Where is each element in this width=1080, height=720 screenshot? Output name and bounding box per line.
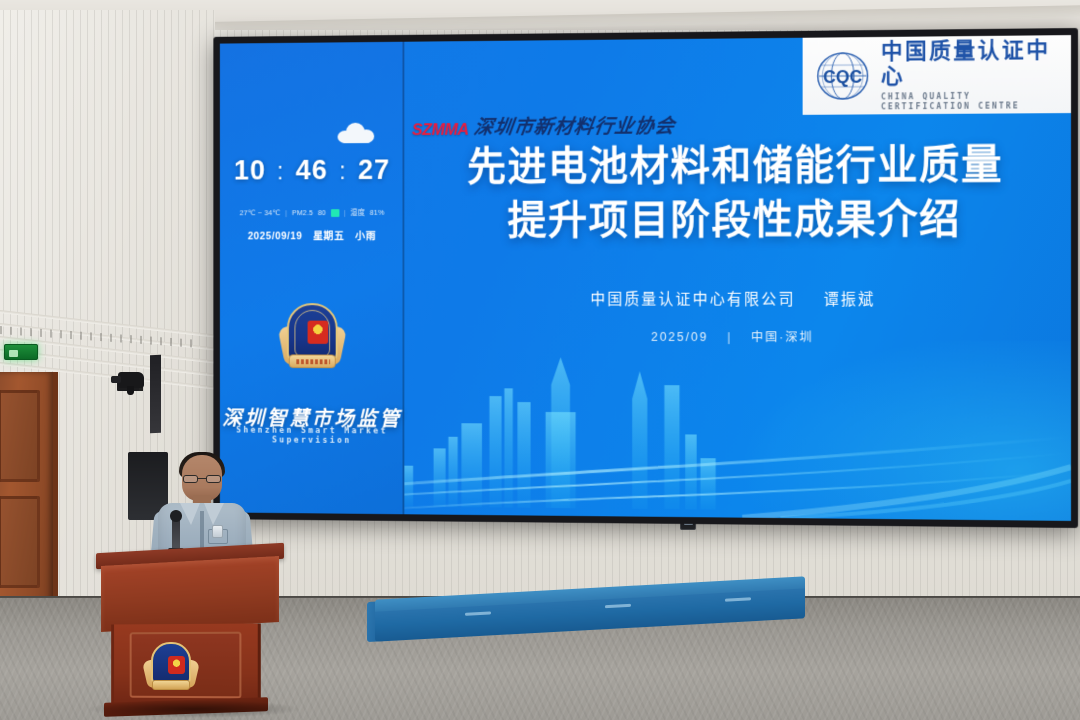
pm25-value: 80 bbox=[318, 208, 326, 217]
szmma-name-cn: 深圳市新材料行业协会 bbox=[472, 110, 677, 140]
humidity-value: 81% bbox=[370, 208, 385, 217]
clock-sep-1: : bbox=[277, 158, 284, 185]
cloud-icon bbox=[338, 123, 376, 143]
screen-bezel: CQC 中国质量认证中心 CHINA QUALITY CERTIFICATION… bbox=[213, 28, 1078, 528]
led-video-wall[interactable]: CQC 中国质量认证中心 CHINA QUALITY CERTIFICATION… bbox=[213, 28, 1078, 528]
speaking-podium bbox=[96, 548, 284, 714]
podium-front-panel bbox=[101, 556, 279, 632]
weather-divider-2: | bbox=[344, 208, 346, 217]
org-name-en: Shenzhen Smart Market Supervision bbox=[220, 426, 404, 447]
name-badge bbox=[212, 525, 223, 538]
wall-camera-icon bbox=[118, 372, 144, 388]
glasses-icon bbox=[183, 475, 221, 483]
cqc-name-en: CHINA QUALITY CERTIFICATION CENTRE bbox=[881, 90, 1063, 111]
szmma-abbr: SZMMA bbox=[412, 120, 469, 140]
cqc-globe-icon: CQC bbox=[814, 50, 871, 102]
market-supervision-emblem-icon bbox=[283, 299, 341, 375]
presenter-name: 谭振斌 bbox=[824, 292, 876, 309]
slide-date: 2025/09 bbox=[651, 330, 708, 344]
temperature-range: 27℃ ~ 34℃ bbox=[240, 208, 281, 217]
slide-title-line2: 提升项目阶段性成果介绍 bbox=[402, 192, 1071, 247]
weekday-value: 星期五 bbox=[313, 230, 344, 242]
skyline-glow bbox=[717, 339, 1071, 521]
door-panel-middle bbox=[0, 496, 40, 588]
weather-row: 27℃ ~ 34℃ | PM2.5 80 | 湿度 81% bbox=[220, 207, 404, 218]
slide-location: 中国·深圳 bbox=[751, 330, 814, 344]
conference-room-scene: CQC 中国质量认证中心 CHINA QUALITY CERTIFICATION… bbox=[0, 0, 1080, 720]
clock-seconds: 27 bbox=[358, 155, 390, 186]
slide-title-line1: 先进电池材料和储能行业质量 bbox=[402, 137, 1071, 194]
svg-text:CQC: CQC bbox=[823, 67, 862, 88]
szmma-association-logo: SZMMA 深圳市新材料行业协会 bbox=[412, 110, 675, 140]
podium-floor-shadow bbox=[86, 700, 301, 718]
emergency-exit-sign bbox=[4, 344, 38, 360]
presenter-org: 中国质量认证中心有限公司 bbox=[590, 292, 795, 309]
clock-display: 10 : 46 : 27 bbox=[220, 155, 404, 188]
cqc-name-cn: 中国质量认证中心 bbox=[881, 38, 1063, 88]
wall-black-strip bbox=[150, 355, 161, 433]
slide-meta-divider: | bbox=[727, 330, 732, 344]
weather-divider-1: | bbox=[285, 208, 287, 217]
clock-hours: 10 bbox=[234, 155, 266, 186]
date-row: 2025/09/19 星期五 小雨 bbox=[220, 228, 404, 243]
weather-condition: 小雨 bbox=[355, 230, 376, 242]
info-dashboard-panel: 10 : 46 : 27 27℃ ~ 34℃ | PM2.5 80 | 湿度 8… bbox=[220, 42, 404, 515]
aqi-status-chip bbox=[331, 209, 339, 217]
pm25-label: PM2.5 bbox=[292, 208, 313, 217]
clock-minutes: 46 bbox=[296, 155, 328, 186]
cqc-logo-plate: CQC 中国质量认证中心 CHINA QUALITY CERTIFICATION… bbox=[803, 35, 1071, 115]
market-supervision-badge-icon bbox=[148, 640, 194, 692]
date-value: 2025/09/19 bbox=[248, 231, 303, 243]
screen-surface: CQC 中国质量认证中心 CHINA QUALITY CERTIFICATION… bbox=[220, 35, 1071, 521]
door-panel-top bbox=[0, 390, 40, 482]
humidity-label: 湿度 bbox=[351, 207, 365, 218]
clock-sep-2: : bbox=[339, 158, 346, 185]
